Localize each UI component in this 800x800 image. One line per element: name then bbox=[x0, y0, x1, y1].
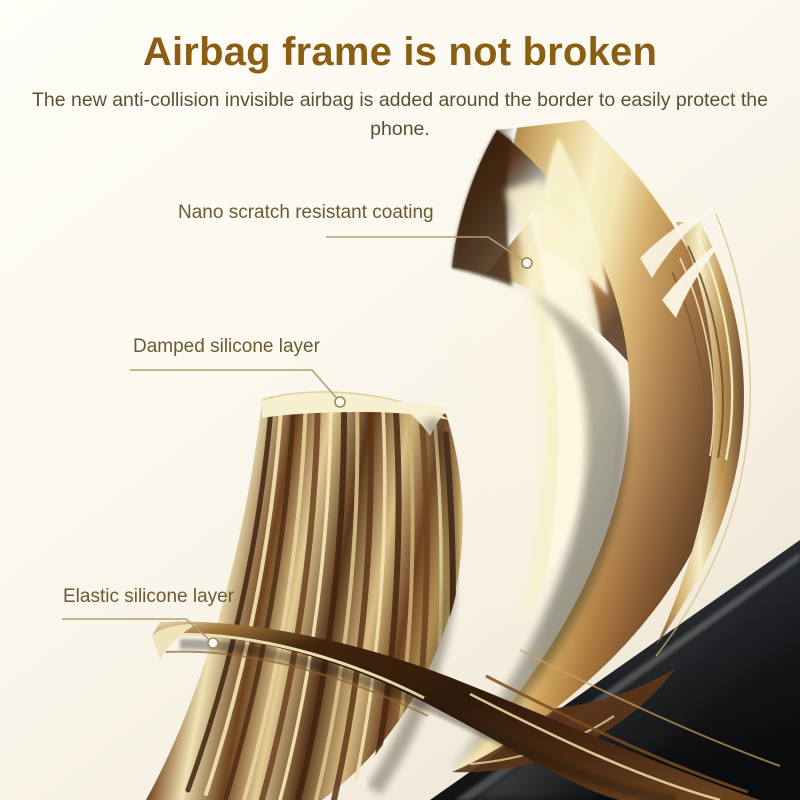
page-subtitle: The new anti-collision invisible airbag … bbox=[14, 86, 786, 144]
page-title: Airbag frame is not broken bbox=[0, 30, 800, 75]
callout-label-damped-silicone: Damped silicone layer bbox=[133, 336, 320, 358]
promo-image-canvas: Airbag frame is not broken The new anti-… bbox=[0, 0, 800, 800]
callout-label-nano-coating: Nano scratch resistant coating bbox=[178, 202, 434, 224]
callout-label-elastic-silicone: Elastic silicone layer bbox=[63, 586, 234, 608]
